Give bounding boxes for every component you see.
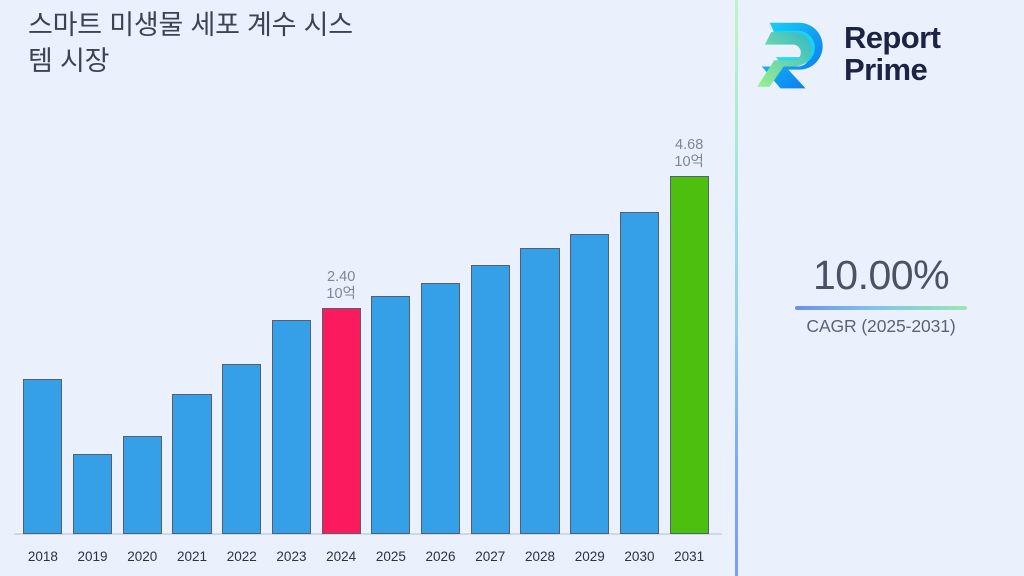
brand-panel: Report Prime 10.00% CAGR (2025-2031): [738, 0, 1024, 576]
x-tick-2028: 2028: [512, 549, 567, 564]
bar-2018: [23, 379, 62, 534]
bar-2030: [620, 212, 659, 534]
bar-2028: [520, 248, 559, 534]
x-tick-2024: 2024: [314, 549, 369, 564]
x-tick-2025: 2025: [363, 549, 418, 564]
x-tick-2027: 2027: [463, 549, 518, 564]
x-tick-2021: 2021: [164, 549, 219, 564]
logo-line-2: Prime: [844, 54, 940, 86]
bar-2027: [471, 265, 510, 534]
x-tick-2023: 2023: [264, 549, 319, 564]
bar-2029: [570, 234, 609, 534]
x-tick-2031: 2031: [662, 549, 717, 564]
bar-value-label-2024: 2.40 10억: [308, 269, 375, 304]
x-tick-2022: 2022: [214, 549, 269, 564]
bar-value-label-2031: 4.68 10억: [656, 137, 723, 172]
x-tick-2030: 2030: [612, 549, 667, 564]
report-prime-logo: Report Prime: [754, 10, 1016, 98]
bar-2026: [421, 283, 460, 534]
cagr-label: CAGR (2025-2031): [738, 316, 1024, 337]
x-tick-2020: 2020: [115, 549, 170, 564]
logo-wordmark: Report Prime: [844, 22, 940, 85]
bar-2021: [172, 394, 211, 534]
chart-slide: 스마트 미생물 세포 계수 시스 템 시장 201820192020202120…: [0, 0, 1024, 576]
x-tick-2026: 2026: [413, 549, 468, 564]
x-axis-line: [14, 533, 722, 535]
bar-2025: [371, 296, 410, 534]
cagr-value: 10.00%: [738, 252, 1024, 299]
bar-2023: [272, 320, 311, 534]
cagr-block: 10.00% CAGR (2025-2031): [738, 252, 1024, 337]
bar-2022: [222, 364, 261, 534]
x-tick-2029: 2029: [562, 549, 617, 564]
report-prime-logo-icon: [754, 18, 832, 90]
bar-2031: [670, 176, 709, 534]
bar-2019: [73, 454, 112, 534]
chart-panel: 스마트 미생물 세포 계수 시스 템 시장 201820192020202120…: [0, 0, 736, 576]
logo-line-1: Report: [844, 22, 940, 54]
bar-2024: [322, 308, 361, 534]
bar-chart-plot: 2018201920202021202220232.40 10억20242025…: [0, 0, 736, 576]
x-tick-2019: 2019: [65, 549, 120, 564]
cagr-divider-rule: [795, 306, 967, 310]
x-tick-2018: 2018: [15, 549, 70, 564]
bar-2020: [123, 436, 162, 534]
